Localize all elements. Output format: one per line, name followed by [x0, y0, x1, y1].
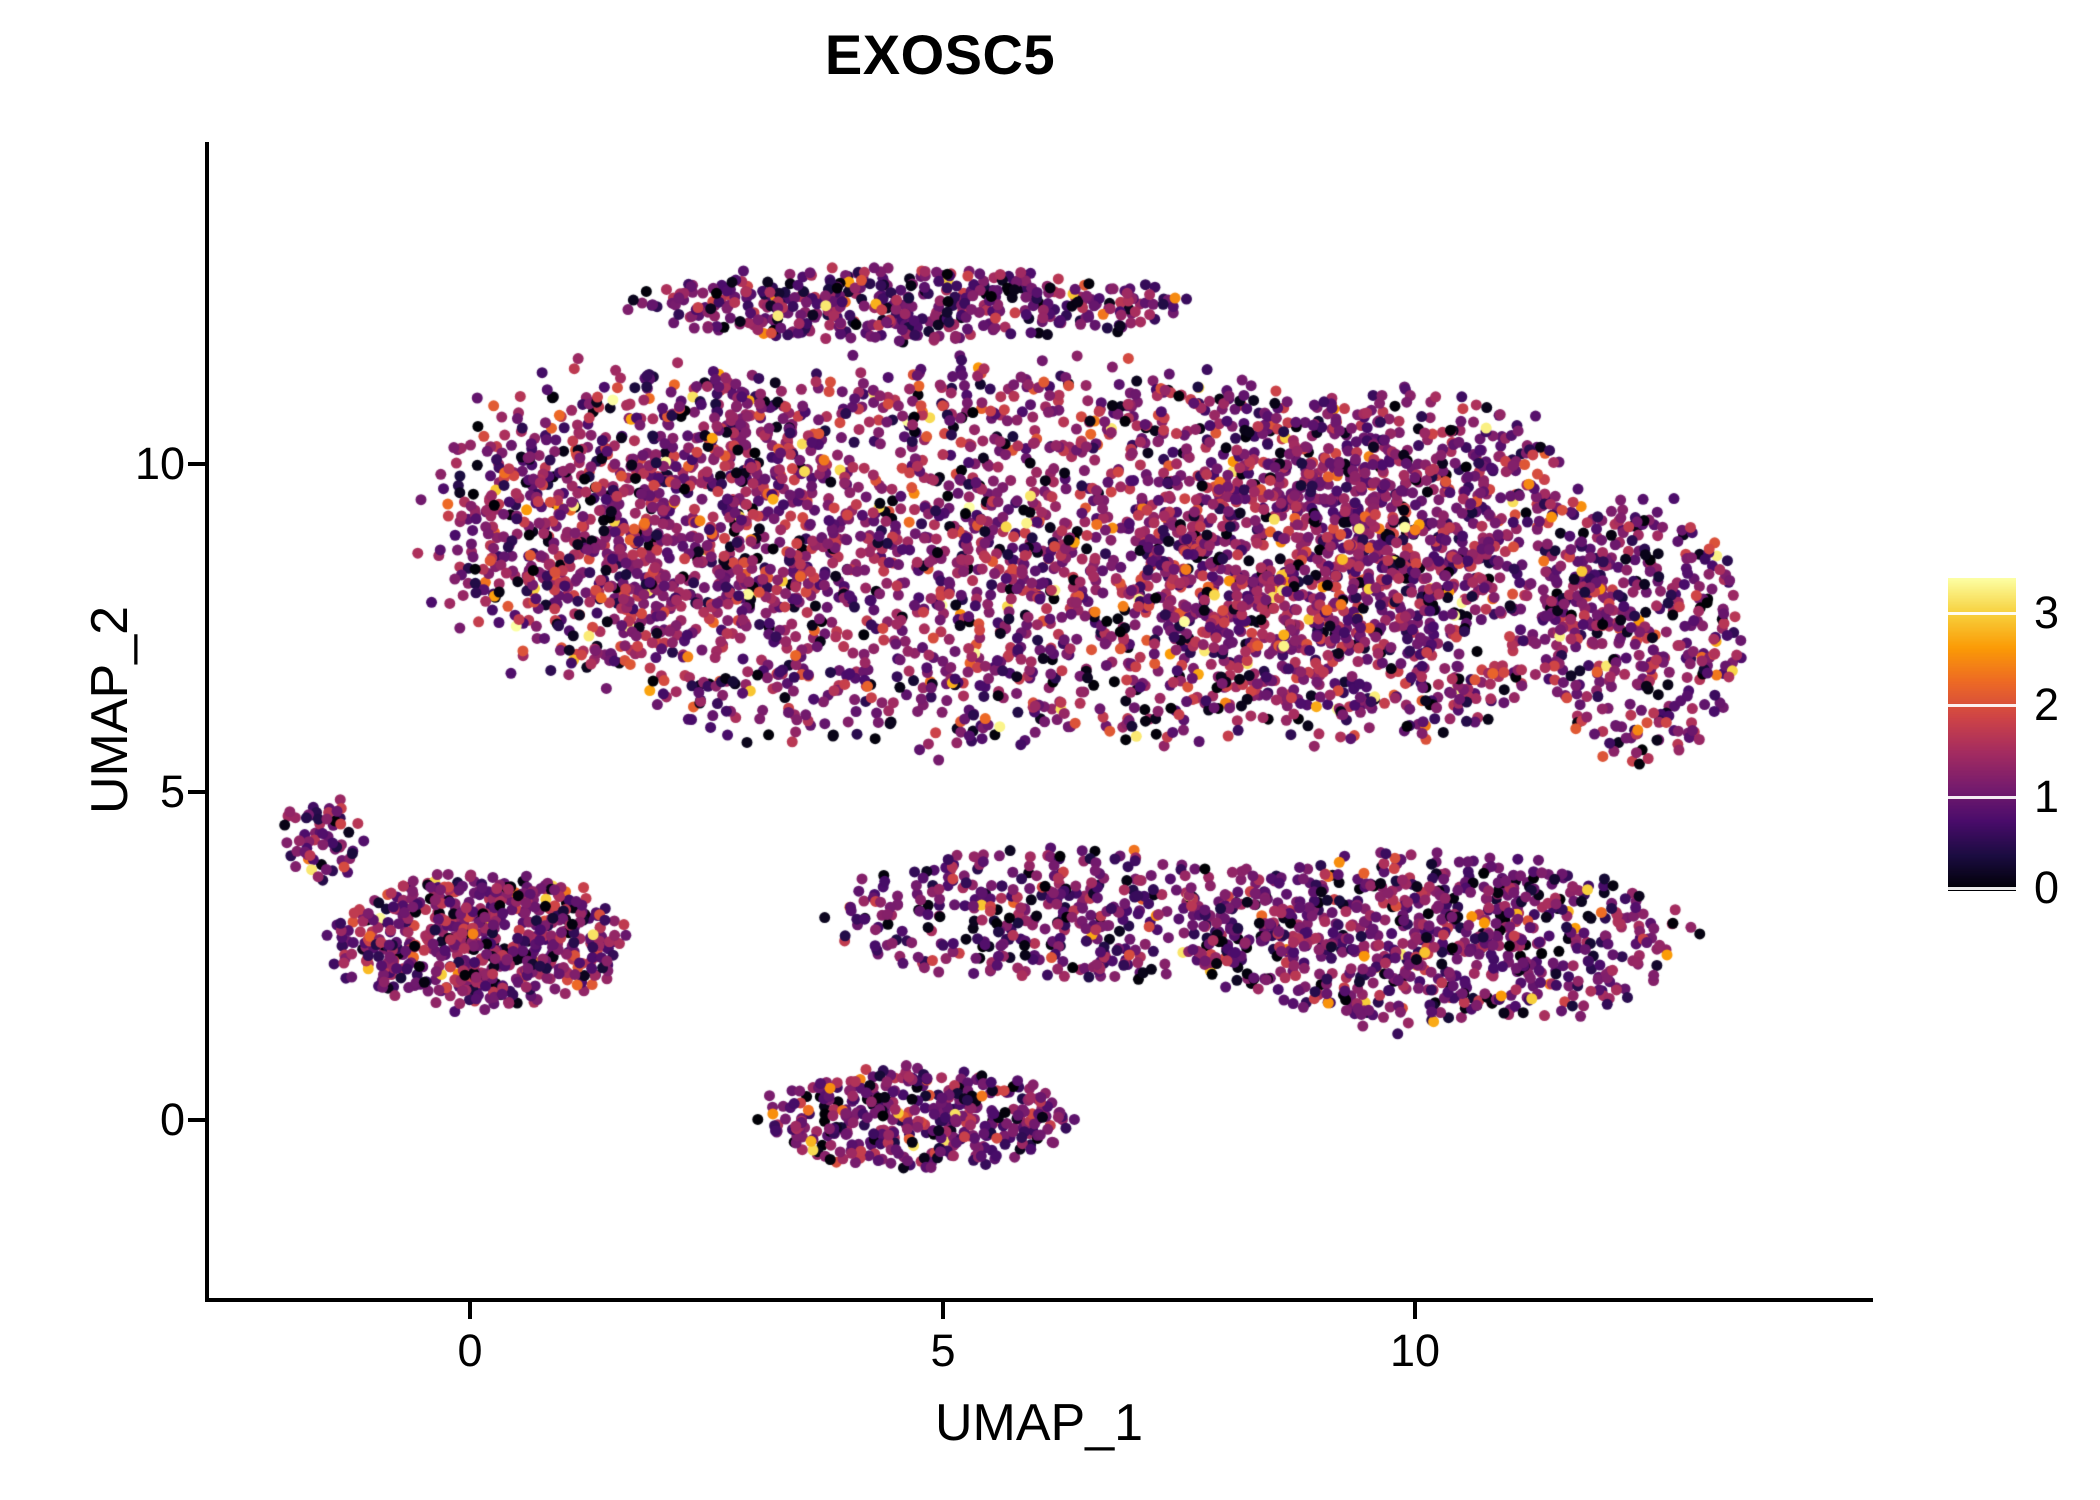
y-axis-line [205, 142, 209, 1302]
y-tick-mark-10 [188, 462, 205, 466]
y-tick-label-10: 10 [135, 438, 185, 490]
x-tick-mark-5 [941, 1302, 945, 1319]
y-tick-mark-0 [188, 1118, 205, 1122]
colorbar-legend: 3 2 1 0 [1948, 578, 2088, 893]
y-tick-mark-5 [188, 790, 205, 794]
colorbar-tick-2 [1948, 704, 2016, 707]
x-tick-label-5: 5 [930, 1325, 955, 1377]
x-tick-mark-0 [468, 1302, 472, 1319]
colorbar-gradient [1948, 578, 2016, 891]
colorbar-label-1: 1 [2034, 771, 2059, 823]
umap-figure-panel: EXOSC5 10 5 0 0 5 10 UMAP_1 UMAP_2 3 2 1… [0, 0, 2100, 1500]
umap-scatter-plot [0, 0, 2100, 1500]
colorbar-label-3: 3 [2034, 587, 2059, 639]
x-axis-title: UMAP_1 [205, 1393, 1873, 1453]
colorbar-tick-1 [1948, 796, 2016, 799]
x-axis-line [205, 1298, 1873, 1302]
colorbar-tick-0 [1948, 887, 2016, 890]
y-tick-label-0: 0 [160, 1094, 185, 1146]
x-tick-mark-10 [1413, 1302, 1417, 1319]
colorbar-tick-3 [1948, 612, 2016, 615]
colorbar-label-0: 0 [2034, 862, 2059, 914]
y-axis-title: UMAP_2 [80, 130, 140, 1290]
colorbar-label-2: 2 [2034, 679, 2059, 731]
x-tick-label-0: 0 [457, 1325, 482, 1377]
x-tick-label-10: 10 [1390, 1325, 1440, 1377]
y-tick-label-5: 5 [160, 766, 185, 818]
